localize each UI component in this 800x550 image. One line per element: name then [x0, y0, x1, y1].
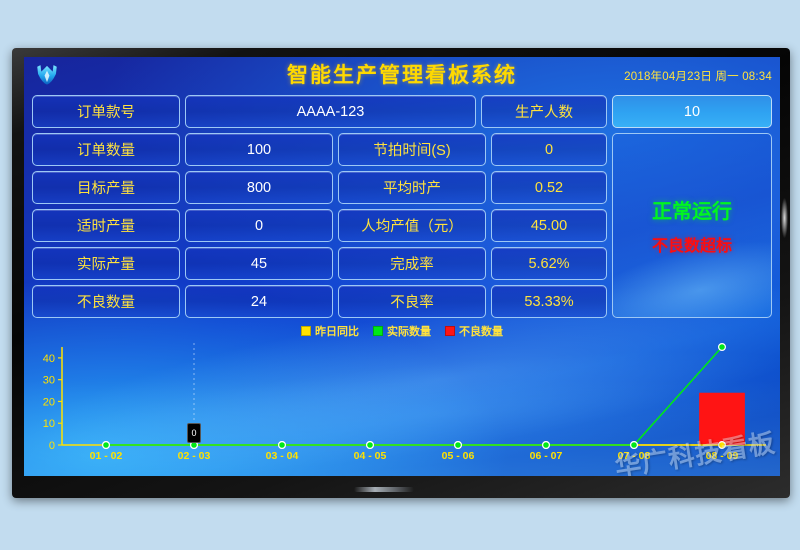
production-trend-chart: 01020304001 - 0202 - 0303 - 0404 - 0505 …	[24, 341, 780, 467]
cell-label-worker-count: 生产人数	[481, 95, 607, 128]
svg-text:07 - 08: 07 - 08	[618, 450, 651, 462]
cell-value-output-per-person: 45.00	[491, 209, 607, 242]
svg-text:02 - 03: 02 - 03	[178, 450, 211, 462]
legend-swatch-defect	[445, 326, 455, 336]
svg-text:10: 10	[43, 418, 55, 430]
svg-text:06 - 07: 06 - 07	[530, 450, 563, 462]
cell-label-order-number: 订单款号	[32, 95, 180, 128]
cell-value-worker-count: 10	[612, 95, 772, 128]
legend-item-defect: 不良数量	[445, 323, 503, 339]
table-row: 实际产量 45 完成率 5.62%	[32, 247, 607, 280]
cell-label-actual-output: 实际产量	[32, 247, 180, 280]
cell-value-actual-output: 45	[185, 247, 333, 280]
svg-text:03 - 04: 03 - 04	[266, 450, 299, 462]
svg-text:30: 30	[43, 375, 55, 387]
cell-value-realtime-output: 0	[185, 209, 333, 242]
table-row: 适时产量 0 人均产值（元） 45.00	[32, 209, 607, 242]
table-row: 不良数量 24 不良率 53.33%	[32, 285, 607, 318]
tv-monitor-bezel: 智能生产管理看板系统 2018年04月23日 周一 08:34 订单款号 AAA…	[12, 48, 790, 498]
chart-tooltip: 0	[187, 423, 201, 443]
dashboard-screen: 智能生产管理看板系统 2018年04月23日 周一 08:34 订单款号 AAA…	[24, 57, 780, 476]
cell-label-takt-time: 节拍时间(S)	[338, 133, 486, 166]
chart-legend: 昨日同比 实际数量 不良数量	[24, 323, 780, 339]
table-row: 目标产量 800 平均时产 0.52	[32, 171, 607, 204]
cell-value-order-quantity: 100	[185, 133, 333, 166]
legend-swatch-yesterday	[301, 326, 311, 336]
kpi-grid-left: 订单款号 AAAA-123 生产人数 订单数量 100 节拍时间(S) 0 目标…	[32, 95, 607, 318]
cell-value-defect-rate: 53.33%	[491, 285, 607, 318]
cell-label-target-output: 目标产量	[32, 171, 180, 204]
legend-label-actual: 实际数量	[387, 323, 431, 339]
cell-value-takt-time: 0	[491, 133, 607, 166]
svg-text:05 - 06: 05 - 06	[442, 450, 475, 462]
cell-label-realtime-output: 适时产量	[32, 209, 180, 242]
cell-label-avg-hourly-output: 平均时产	[338, 171, 486, 204]
legend-swatch-actual	[373, 326, 383, 336]
cell-value-avg-hourly-output: 0.52	[491, 171, 607, 204]
cell-label-defect-quantity: 不良数量	[32, 285, 180, 318]
dashboard-header: 智能生产管理看板系统 2018年04月23日 周一 08:34	[24, 57, 780, 95]
kpi-grid-right: 10 正常运行 不良数超标	[612, 95, 772, 318]
cell-label-completion-rate: 完成率	[338, 247, 486, 280]
svg-text:04 - 05: 04 - 05	[354, 450, 387, 462]
kpi-board: 订单款号 AAAA-123 生产人数 订单数量 100 节拍时间(S) 0 目标…	[24, 95, 780, 318]
svg-text:01 - 02: 01 - 02	[90, 450, 123, 462]
svg-text:40: 40	[43, 353, 55, 365]
svg-text:20: 20	[43, 396, 55, 408]
cell-label-output-per-person: 人均产值（元）	[338, 209, 486, 242]
legend-label-defect: 不良数量	[459, 323, 503, 339]
status-panel: 正常运行 不良数超标	[612, 133, 772, 318]
legend-item-yesterday: 昨日同比	[301, 323, 359, 339]
status-badge-running: 正常运行	[652, 195, 732, 224]
datetime-display: 2018年04月23日 周一 08:34	[624, 68, 772, 84]
cell-value-order-number: AAAA-123	[185, 95, 476, 128]
table-row: 订单款号 AAAA-123 生产人数	[32, 95, 607, 128]
svg-text:08 - 09: 08 - 09	[706, 450, 739, 462]
status-badge-defect-alarm: 不良数超标	[652, 232, 732, 256]
svg-text:0: 0	[49, 440, 55, 452]
chart-canvas: 01020304001 - 0202 - 0303 - 0404 - 0505 …	[24, 341, 780, 467]
cell-value-completion-rate: 5.62%	[491, 247, 607, 280]
legend-label-yesterday: 昨日同比	[315, 323, 359, 339]
cell-value-target-output: 800	[185, 171, 333, 204]
cell-value-defect-quantity: 24	[185, 285, 333, 318]
cell-label-order-quantity: 订单数量	[32, 133, 180, 166]
legend-item-actual: 实际数量	[373, 323, 431, 339]
bezel-light-reflection	[781, 198, 788, 238]
cell-label-defect-rate: 不良率	[338, 285, 486, 318]
table-row: 订单数量 100 节拍时间(S) 0	[32, 133, 607, 166]
